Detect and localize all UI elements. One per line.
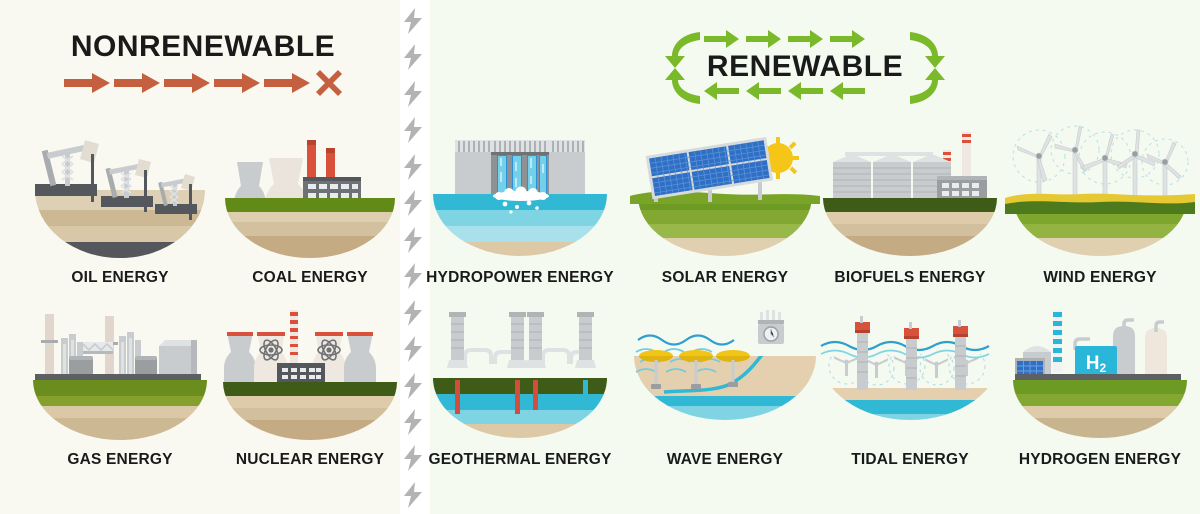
tile-gas[interactable]: GAS ENERGY xyxy=(25,300,215,469)
lightning-bolt-icon xyxy=(402,227,424,253)
tile-solar[interactable]: SOLAR ENERGY xyxy=(630,118,820,287)
tile-label-tidal: TIDAL ENERGY xyxy=(815,451,1005,469)
tile-label-biofuels: BIOFUELS ENERGY xyxy=(815,269,1005,287)
nonrenewable-header: NONRENEWABLE xyxy=(38,30,368,110)
lightning-bolt-icon xyxy=(402,117,424,143)
right-arrow-icon xyxy=(114,73,160,93)
tile-label-wave: WAVE ENERGY xyxy=(630,451,820,469)
tile-label-gas: GAS ENERGY xyxy=(25,451,215,469)
tile-label-hydropower: HYDROPOWER ENERGY xyxy=(425,269,615,287)
nuclear-plant-icon xyxy=(215,300,405,440)
renewable-header: RENEWABLE xyxy=(660,26,950,110)
wave-buoy-icon xyxy=(630,300,820,440)
wind-turbine-icon xyxy=(1005,118,1195,258)
tile-label-nuclear: NUCLEAR ENERGY xyxy=(215,451,405,469)
tile-hydropower[interactable]: HYDROPOWER ENERGY xyxy=(425,118,615,287)
cross-icon xyxy=(316,70,342,96)
tile-wave[interactable]: WAVE ENERGY xyxy=(630,300,820,469)
nonrenewable-arrow-row xyxy=(38,70,368,96)
hydro-dam-icon xyxy=(425,118,615,258)
right-arrow-icon xyxy=(264,73,310,93)
lightning-bolt-icon xyxy=(402,373,424,399)
right-arrow-icon xyxy=(214,73,260,93)
nonrenewable-title: NONRENEWABLE xyxy=(38,30,368,64)
biofuel-silo-icon xyxy=(815,118,1005,258)
hydrogen-plant-icon: H2 xyxy=(1005,300,1195,440)
right-arrow-icon xyxy=(64,73,110,93)
tile-label-oil: OIL ENERGY xyxy=(25,269,215,287)
oil-pumpjack-icon xyxy=(25,118,215,258)
lightning-bolt-icon xyxy=(402,482,424,508)
tile-oil[interactable]: OIL ENERGY xyxy=(25,118,215,287)
tile-label-geothermal: GEOTHERMAL ENERGY xyxy=(425,451,615,469)
lightning-bolt-icon xyxy=(402,336,424,362)
lightning-bolt-icon xyxy=(402,190,424,216)
right-arrow-icon xyxy=(164,73,210,93)
lightning-bolt-icon xyxy=(402,300,424,326)
tile-label-hydrogen: HYDROGEN ENERGY xyxy=(1005,451,1195,469)
tile-tidal[interactable]: TIDAL ENERGY xyxy=(815,300,1005,469)
tile-geothermal[interactable]: GEOTHERMAL ENERGY xyxy=(425,300,615,469)
tidal-turbine-icon xyxy=(815,300,1005,440)
tile-hydrogen[interactable]: H2 HYDROGEN ENERGY xyxy=(1005,300,1195,469)
tile-label-wind: WIND ENERGY xyxy=(1005,269,1195,287)
coal-plant-icon xyxy=(215,118,405,258)
infographic-root: NONRENEWABLE xyxy=(0,0,1200,514)
gas-refinery-icon xyxy=(25,300,215,440)
lightning-bolt-icon xyxy=(402,263,424,289)
lightning-bolt-icon xyxy=(402,154,424,180)
lightning-bolt-icon xyxy=(402,44,424,70)
lightning-bolt-icon xyxy=(402,409,424,435)
tile-biofuels[interactable]: BIOFUELS ENERGY xyxy=(815,118,1005,287)
tile-coal[interactable]: COAL ENERGY xyxy=(215,118,405,287)
lightning-bolt-icon xyxy=(402,445,424,471)
tile-nuclear[interactable]: NUCLEAR ENERGY xyxy=(215,300,405,469)
lightning-bolt-icon xyxy=(402,8,424,34)
tile-label-coal: COAL ENERGY xyxy=(215,269,405,287)
renewable-title: RENEWABLE xyxy=(660,50,950,84)
lightning-bolt-icon xyxy=(402,81,424,107)
tile-label-solar: SOLAR ENERGY xyxy=(630,269,820,287)
tile-wind[interactable]: WIND ENERGY xyxy=(1005,118,1195,287)
geothermal-plant-icon xyxy=(425,300,615,440)
solar-panel-icon xyxy=(630,118,820,258)
